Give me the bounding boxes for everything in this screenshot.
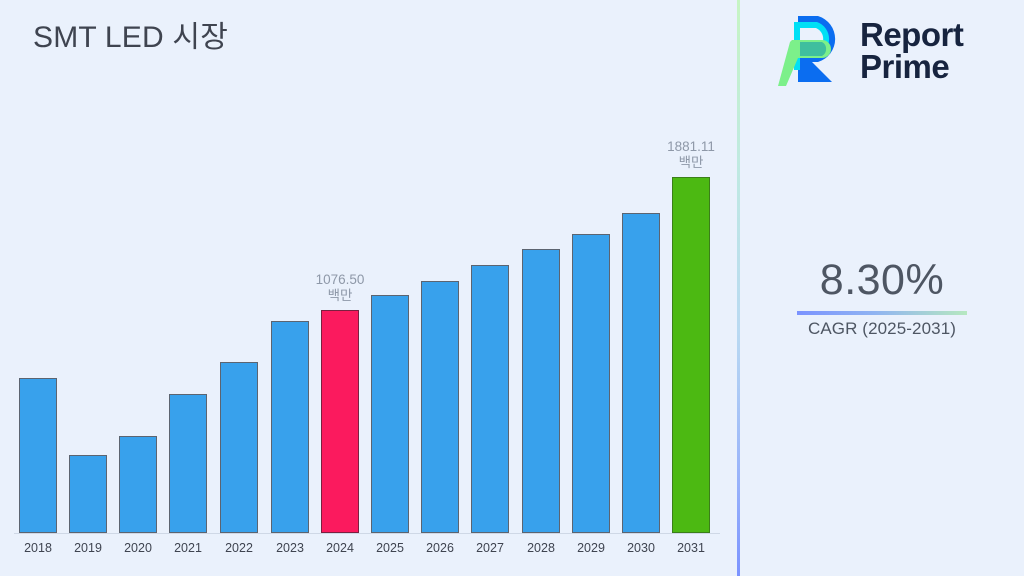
x-tick-2031: 2031 (661, 541, 721, 555)
bar-2022[interactable] (220, 362, 258, 533)
bar-value-unit-2031: 백만 (631, 155, 751, 171)
bar-2030[interactable] (622, 213, 660, 533)
bar-2031[interactable] (672, 177, 710, 533)
bar-2029[interactable] (572, 234, 610, 533)
bar-2025[interactable] (371, 295, 409, 533)
bar-2028[interactable] (522, 249, 560, 533)
bar-value-label-2031: 1881.11 백만 (631, 139, 751, 171)
report-prime-logo-icon (778, 12, 848, 90)
chart-panel: SMT LED 시장 1076.50 백만 1881.11 백만 2018 20… (0, 0, 738, 576)
bar-2024[interactable] (321, 310, 359, 533)
brand-name-line2: Prime (860, 51, 963, 83)
bar-2019[interactable] (69, 455, 107, 533)
bar-2026[interactable] (421, 281, 459, 533)
cagr-divider-rule (797, 311, 967, 315)
brand-logo[interactable]: Report Prime (778, 12, 963, 90)
bar-2021[interactable] (169, 394, 207, 533)
bar-2023[interactable] (271, 321, 309, 533)
cagr-block: 8.30% CAGR (2025-2031) (740, 255, 1024, 339)
bar-value-label-2024: 1076.50 백만 (280, 272, 400, 304)
bar-value-number-2024: 1076.50 (280, 272, 400, 288)
cagr-value: 8.30% (740, 255, 1024, 305)
brand-panel: Report Prime 8.30% CAGR (2025-2031) (740, 0, 1024, 576)
bar-2018[interactable] (19, 378, 57, 533)
bar-2020[interactable] (119, 436, 157, 533)
cagr-caption: CAGR (2025-2031) (740, 319, 1024, 339)
chart-baseline (14, 533, 720, 534)
bar-2027[interactable] (471, 265, 509, 533)
brand-name: Report Prime (860, 19, 963, 84)
bar-chart: 1076.50 백만 1881.11 백만 2018 2019 2020 202… (0, 0, 738, 576)
brand-name-line1: Report (860, 19, 963, 51)
bar-value-unit-2024: 백만 (280, 288, 400, 304)
bar-value-number-2031: 1881.11 (631, 139, 751, 155)
